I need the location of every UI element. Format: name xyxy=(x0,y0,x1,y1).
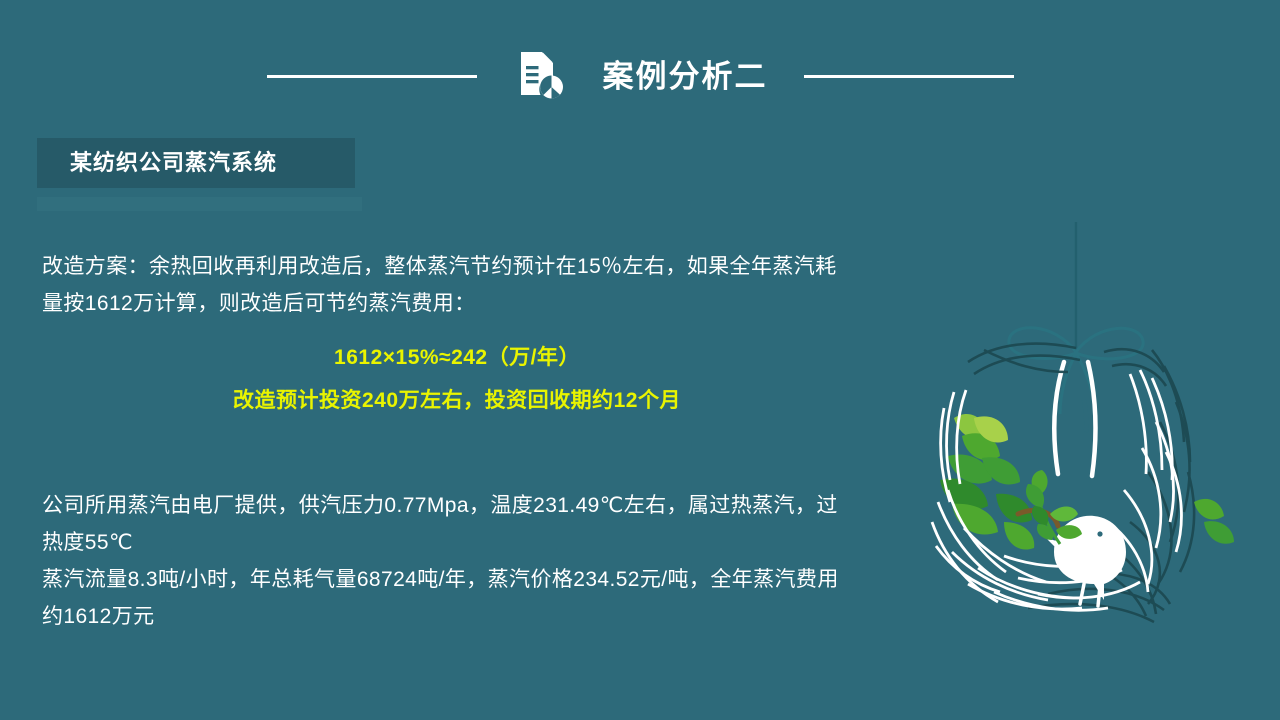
woven-nest-white-icon xyxy=(932,370,1181,610)
highlight-formula: 1612×15%≈242（万/年） xyxy=(42,342,872,374)
ribbon-tails-icon xyxy=(1054,362,1095,476)
specs-paragraph: 公司所用蒸汽由电厂提供，供汽压力0.77Mpa，温度231.49℃左右，属过热蒸… xyxy=(42,487,857,635)
wreath-nest-with-dove-illustration xyxy=(908,222,1244,652)
header-divider-right xyxy=(804,75,1014,78)
intro-paragraph: 改造方案：余热回收再利用改造后，整体蒸汽节约预计在15％左右，如果全年蒸汽耗量按… xyxy=(42,248,852,322)
white-dove-icon xyxy=(1046,516,1126,606)
page-title: 案例分析二 xyxy=(603,61,768,92)
slide-root: 案例分析二 某纺织公司蒸汽系统 改造方案：余热回收再利用改造后，整体蒸汽节约预计… xyxy=(0,0,1280,720)
slide-header: 案例分析二 xyxy=(0,46,1280,106)
bow-icon xyxy=(1009,328,1143,416)
highlight-block: 1612×15%≈242（万/年） 改造预计投资240万左右，投资回收期约12个… xyxy=(42,342,872,417)
woven-nest-dark-icon xyxy=(968,344,1194,622)
green-foliage-icon xyxy=(940,414,1234,550)
header-divider-left xyxy=(267,75,477,78)
section-badge-label: 某纺织公司蒸汽系统 xyxy=(70,152,277,174)
olive-branch-icon xyxy=(1026,470,1082,544)
highlight-note: 改造预计投资240万左右，投资回收期约12个月 xyxy=(42,385,872,417)
section-badge: 某纺织公司蒸汽系统 xyxy=(37,138,355,188)
document-report-icon xyxy=(513,49,567,103)
section-badge-underbar xyxy=(37,197,362,211)
